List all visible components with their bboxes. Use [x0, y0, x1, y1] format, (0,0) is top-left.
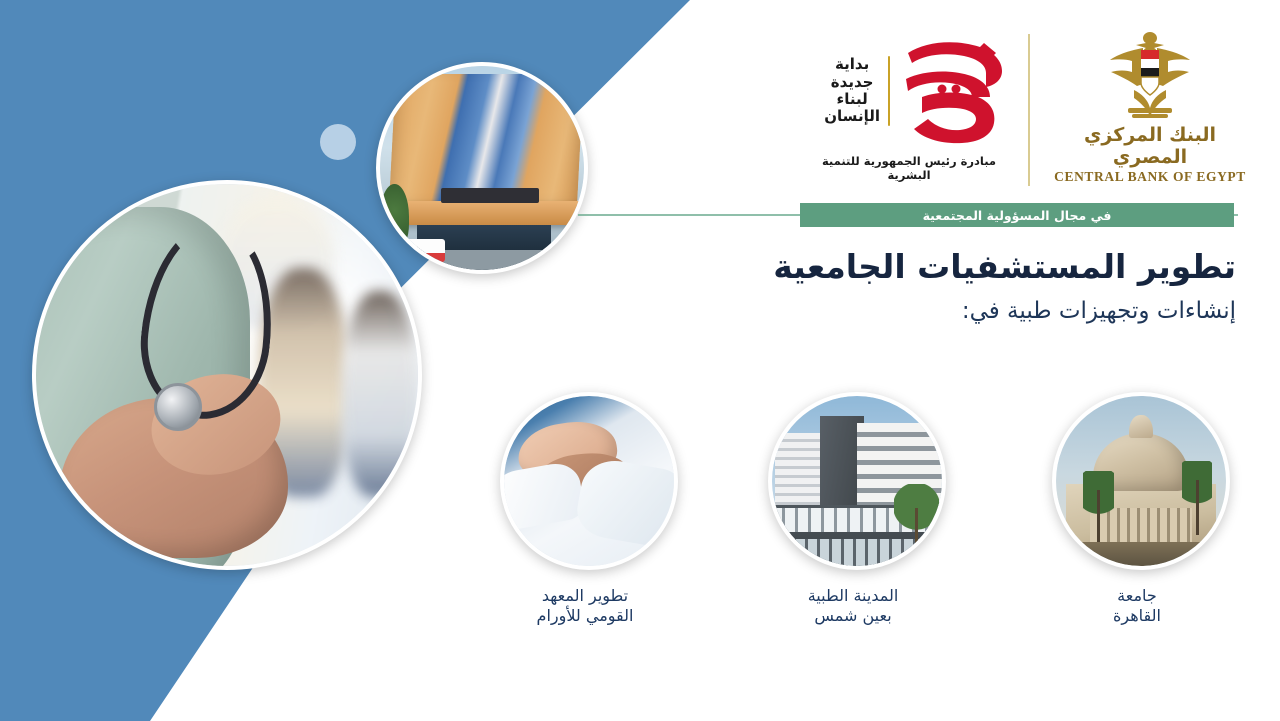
bedaya-logo-top: بداية جديدة لبناء الإنسان: [800, 32, 1018, 150]
bedaya-subtitle: مبادرة رئيس الجمهورية للتنمية البشرية: [800, 154, 1018, 182]
background-blur-3: [342, 291, 418, 497]
social-responsibility-banner: في مجال المسؤولية المجتمعية: [800, 203, 1234, 227]
bedaya-logo: بداية جديدة لبناء الإنسان: [800, 28, 1018, 190]
oncology-tree: [380, 184, 409, 249]
logo-row: بداية جديدة لبناء الإنسان: [790, 28, 1250, 190]
bedaya-tagline: بداية جديدة لبناء الإنسان: [824, 56, 880, 126]
university-ground: [1056, 542, 1226, 566]
cairo-university-inner: [1056, 396, 1226, 566]
caring-hands-photo: [500, 392, 678, 570]
captions-row: تطوير المعهد القومي للأورام المدينة الطب…: [480, 586, 1260, 646]
doctor-photo: [32, 180, 422, 570]
central-bank-english-name: CENTRAL BANK OF EGYPT: [1052, 169, 1248, 185]
medical-city-inner: [772, 396, 942, 566]
page-subtitle: إنشاءات وتجهيزات طبية في:: [616, 297, 1236, 326]
central-bank-logo: البنك المركزي المصري CENTRAL BANK OF EGY…: [1052, 28, 1248, 190]
university-palm-1: [1083, 471, 1114, 546]
headings-block: تطوير المستشفيات الجامعية إنشاءات وتجهيز…: [616, 248, 1236, 326]
cairo-university-photo: [1052, 392, 1230, 570]
stethoscope-bell-icon: [154, 383, 202, 431]
palm-tree-icon: [894, 484, 938, 562]
page-title: تطوير المستشفيات الجامعية: [616, 248, 1236, 287]
oncology-canopy: [384, 201, 580, 225]
oncology-photo-inner: [380, 66, 584, 270]
slide-root: بداية جديدة لبناء الإنسان: [0, 0, 1280, 721]
bedaya-wordmark-icon: [898, 35, 1018, 147]
oncology-institute-photo: [376, 62, 588, 274]
university-palm-2: [1182, 461, 1213, 536]
dome-lantern: [1129, 415, 1153, 439]
oncology-signboard: [441, 188, 539, 202]
central-bank-arabic-name: البنك المركزي المصري: [1052, 124, 1248, 168]
bedaya-gold-rule: [888, 56, 890, 126]
eagle-of-saladin-icon: [1104, 28, 1196, 122]
caption-cairo-university: جامعة القاهرة: [1037, 586, 1237, 627]
doctor-photo-inner: [36, 184, 418, 566]
caption-ain-shams-medical-city: المدينة الطبية بعين شمس: [753, 586, 953, 627]
caption-oncology-institute: تطوير المعهد القومي للأورام: [485, 586, 685, 627]
decorative-circle: [320, 124, 356, 160]
logo-divider: [1028, 34, 1030, 186]
caring-hands-inner: [504, 396, 674, 566]
medical-city-photo: [768, 392, 946, 570]
